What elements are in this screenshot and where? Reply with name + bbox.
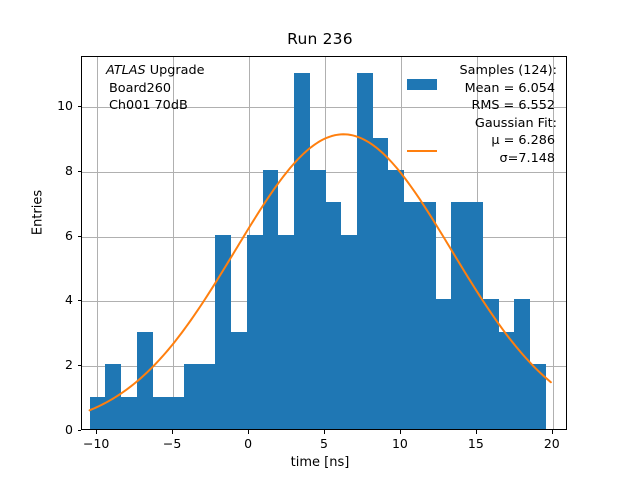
y-tick-mark (78, 430, 82, 431)
x-axis-label: time [ns] (0, 455, 640, 470)
board-label: Board260 (106, 80, 204, 98)
y-tick-mark (78, 106, 82, 107)
chart-legend: Samples (124): Mean = 6.054 RMS = 6.552 … (407, 62, 557, 167)
x-tick-mark (552, 430, 553, 434)
y-tick-label: 0 (33, 422, 73, 437)
upgrade-label: Upgrade (146, 63, 205, 78)
x-tick-label: −5 (147, 436, 197, 451)
y-tick-label: 2 (33, 357, 73, 372)
y-tick-mark (78, 300, 82, 301)
chart-title: Run 236 (0, 30, 640, 48)
atlas-annotation: ATLAS Upgrade Board260 Ch001 70dB (106, 62, 204, 115)
x-tick-label: −10 (71, 436, 121, 451)
y-tick-label: 4 (33, 292, 73, 307)
x-tick-mark (476, 430, 477, 434)
x-tick-label: 20 (527, 436, 577, 451)
legend-mu-label: μ = 6.286 (407, 132, 557, 150)
x-tick-label: 5 (299, 436, 349, 451)
legend-swatch-fit (407, 150, 437, 152)
legend-samples-label: Samples (124): (407, 62, 557, 80)
legend-rms-label: RMS = 6.552 (407, 97, 557, 115)
chart-figure: Run 236 0246810 −10−505101520 time [ns] … (0, 0, 640, 480)
atlas-label: ATLAS (106, 63, 146, 78)
x-tick-mark (172, 430, 173, 434)
legend-fit-title: Gaussian Fit: (407, 115, 557, 133)
y-axis-label: Entries (31, 153, 46, 273)
x-tick-mark (248, 430, 249, 434)
y-tick-label: 10 (33, 98, 73, 113)
x-tick-mark (96, 430, 97, 434)
y-tick-mark (78, 171, 82, 172)
x-tick-label: 0 (223, 436, 273, 451)
x-tick-mark (324, 430, 325, 434)
legend-sigma-label: σ=7.148 (407, 150, 557, 168)
y-tick-mark (78, 365, 82, 366)
channel-label: Ch001 70dB (106, 97, 204, 115)
x-tick-mark (400, 430, 401, 434)
legend-swatch-samples (407, 79, 437, 90)
x-tick-label: 10 (375, 436, 425, 451)
x-tick-label: 15 (451, 436, 501, 451)
y-tick-mark (78, 236, 82, 237)
